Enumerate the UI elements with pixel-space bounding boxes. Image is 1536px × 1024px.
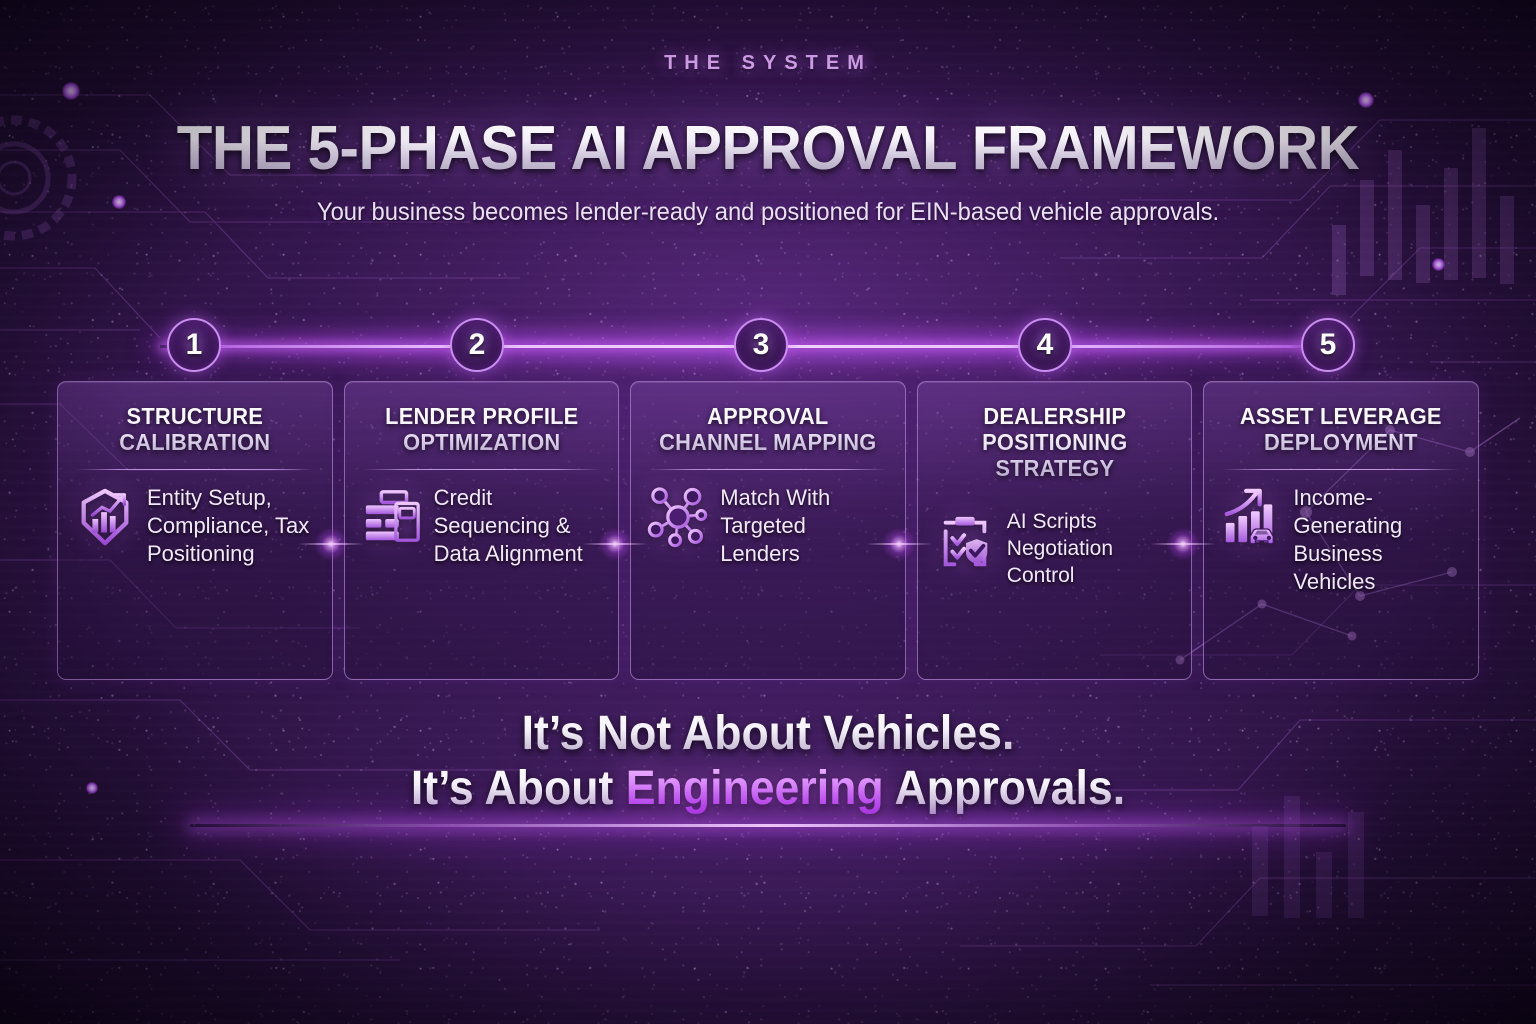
eyebrow-label: THE SYSTEM	[0, 52, 1536, 75]
phase-card-2-title: LENDER PROFILE OPTIMIZATION	[367, 404, 597, 456]
phase-badge-1-number: 1	[186, 328, 203, 362]
phase-card-5-divider	[1222, 469, 1460, 470]
phase-card-5-description: Income-Generating Business Vehicles	[1293, 484, 1462, 597]
phase-card-1-title: STRUCTURE CALIBRATION	[80, 404, 310, 456]
phase-badge-5[interactable]: 5	[1301, 318, 1355, 372]
phase-badge-3[interactable]: 3	[734, 318, 788, 372]
phase-card-5-title: ASSET LEVERAGE DEPLOYMENT	[1226, 404, 1456, 456]
phase-card-4[interactable]: DEALERSHIP POSITIONING STRATEGY A	[917, 381, 1193, 680]
tagline-highlight-word: Engineering	[626, 762, 884, 815]
glow-node-topleft	[62, 82, 80, 100]
phase-card-3-title: APPROVAL CHANNEL MAPPING	[653, 404, 883, 456]
page-title: THE 5-PHASE AI APPROVAL FRAMEWORK	[46, 113, 1490, 184]
dashboard-documents-icon	[361, 486, 423, 548]
phase-card-3-divider	[649, 469, 887, 470]
shield-bar-chart-icon	[74, 486, 136, 548]
phase-card-4-body: AI Scripts Negotiation Control	[934, 509, 1176, 590]
phase-card-3-description: Match With Targeted Lenders	[720, 484, 889, 568]
tagline-underglow-line	[190, 824, 1346, 827]
phase-card-2[interactable]: LENDER PROFILE OPTIMIZATION	[344, 381, 620, 680]
phase-badge-4[interactable]: 4	[1018, 318, 1072, 372]
phase-card-3[interactable]: APPROVAL CHANNEL MAPPING	[630, 381, 906, 680]
tagline-line-1: It’s Not About Vehicles.	[54, 706, 1482, 761]
growth-chart-car-icon	[1220, 486, 1282, 548]
clipboard-check-shield-icon	[934, 511, 996, 573]
phase-card-2-divider	[363, 469, 601, 470]
page-subtitle: Your business becomes lender-ready and p…	[38, 198, 1497, 227]
glow-node-topright	[1358, 92, 1374, 108]
phase-card-1[interactable]: STRUCTURE CALIBRATION Entity Setup, Comp…	[57, 381, 333, 680]
phase-badge-2-number: 2	[469, 328, 486, 362]
network-nodes-icon	[647, 486, 709, 548]
phase-card-5-body: Income-Generating Business Vehicles	[1220, 484, 1462, 597]
tagline-line-2: It’s About Engineering Approvals.	[54, 761, 1482, 816]
tagline-line-2-after: Approvals.	[884, 762, 1125, 815]
glow-node-right-mid	[1432, 258, 1445, 271]
phase-card-row: STRUCTURE CALIBRATION Entity Setup, Comp…	[57, 381, 1479, 680]
phase-card-1-description: Entity Setup, Compliance, Tax Positionin…	[147, 484, 316, 568]
tagline-line-2-before: It’s About	[411, 762, 626, 815]
phase-badge-5-number: 5	[1320, 328, 1337, 362]
phase-card-4-description: AI Scripts Negotiation Control	[1007, 509, 1176, 590]
phase-card-3-body: Match With Targeted Lenders	[647, 484, 889, 568]
infographic-canvas: THE SYSTEM THE 5-PHASE AI APPROVAL FRAME…	[0, 0, 1536, 1024]
phase-card-1-body: Entity Setup, Compliance, Tax Positionin…	[74, 484, 316, 568]
phase-card-4-title: DEALERSHIP POSITIONING STRATEGY	[940, 404, 1170, 481]
phase-card-2-body: Credit Sequencing & Data Alignment	[361, 484, 603, 568]
phase-card-5[interactable]: ASSET LEVERAGE DEPLOYMENT	[1203, 381, 1479, 680]
phase-badge-3-number: 3	[753, 328, 770, 362]
phase-badge-2[interactable]: 2	[450, 318, 504, 372]
phase-badge-1[interactable]: 1	[167, 318, 221, 372]
phase-card-2-description: Credit Sequencing & Data Alignment	[434, 484, 603, 568]
phase-badge-4-number: 4	[1037, 328, 1054, 362]
closing-tagline: It’s Not About Vehicles. It’s About Engi…	[54, 706, 1482, 816]
phase-card-1-divider	[76, 469, 314, 470]
